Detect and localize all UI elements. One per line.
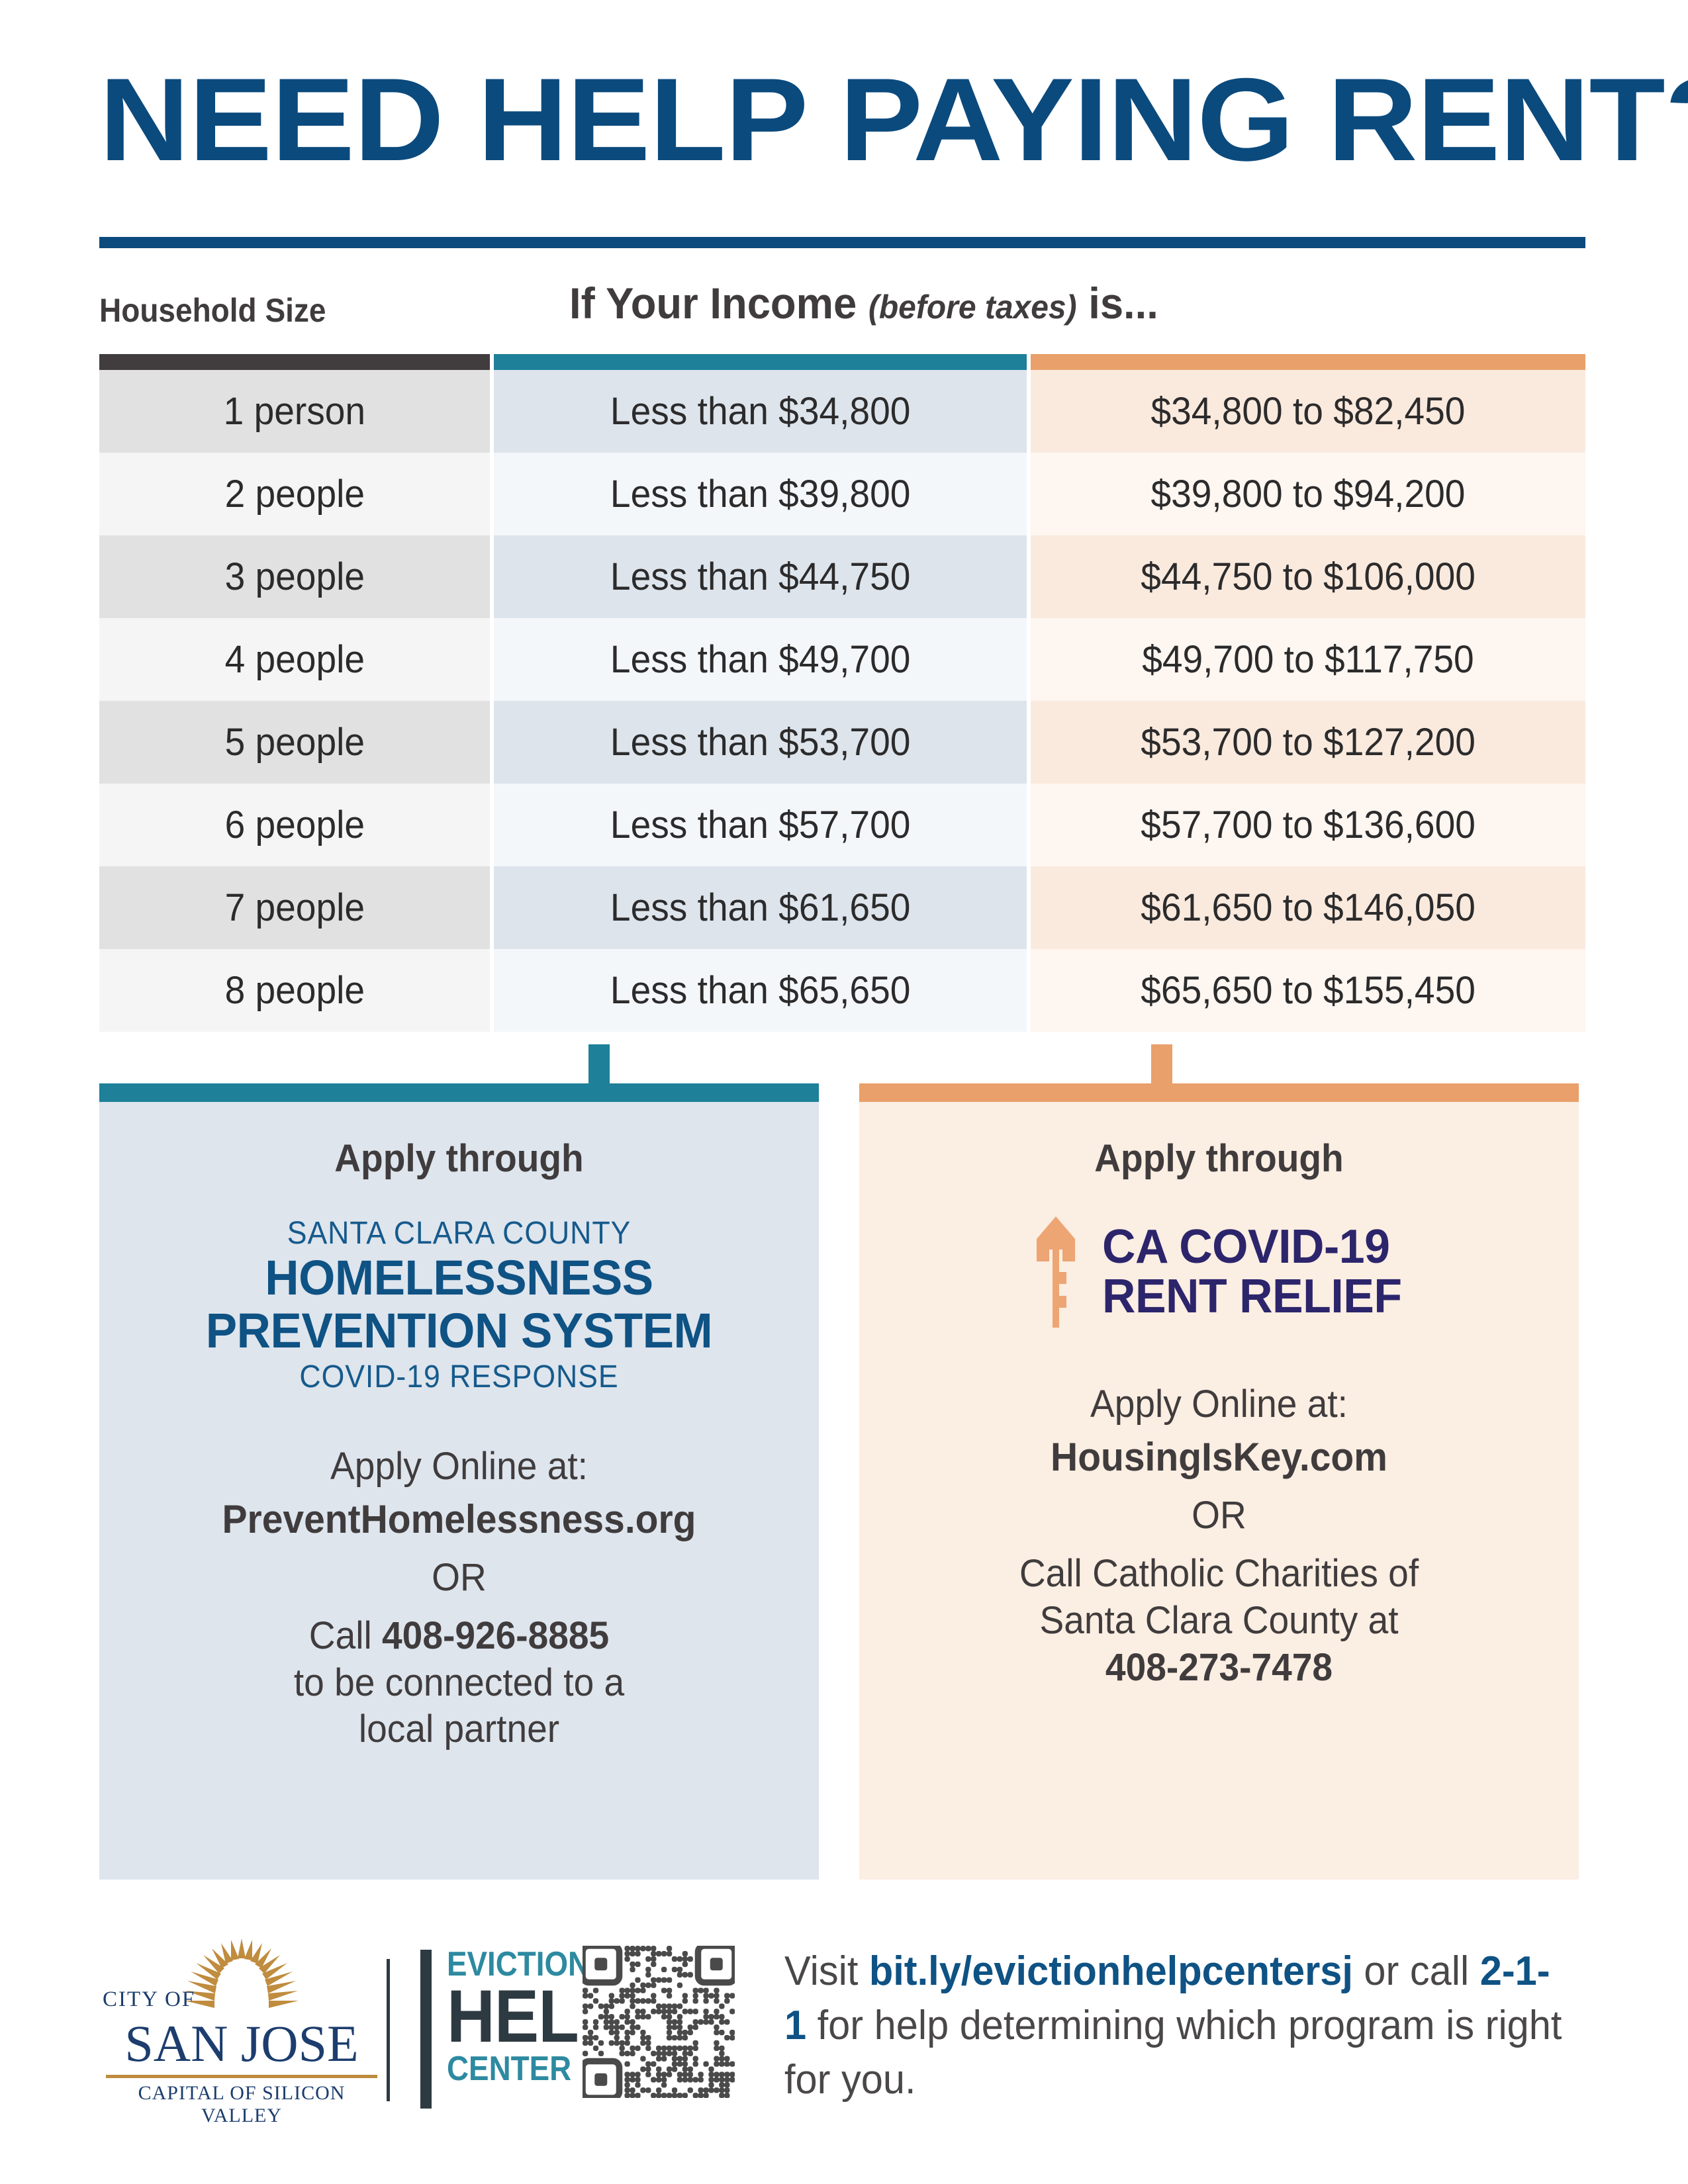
table-row: 2 peopleLess than $39,800$39,800 to $94,… [99,453,1585,535]
call-instruction-left: Call 408-926-8885 to be connected to a l… [142,1613,776,1753]
call-suffix-line1-left: to be connected to a [294,1661,624,1704]
ca-rent-relief-logo: CA COVID-19 RENT RELIEF [886,1215,1552,1329]
income-header-tail: is... [1088,279,1158,328]
cell-household-size: 3 people [99,535,490,618]
income-header: If Your Income (before taxes) is... [569,278,1158,328]
cell-less-than: Less than $61,650 [494,866,1027,949]
qr-code[interactable] [583,1946,735,2098]
footer-text-part1: Visit [784,1948,869,1994]
table-row: 7 peopleLess than $61,650$61,650 to $146… [99,866,1585,949]
cell-income-range: $61,650 to $146,050 [1031,866,1585,949]
income-header-main: If Your Income [569,279,857,328]
panel-accent-bar-orange [859,1083,1579,1102]
apply-panel-homelessness-prevention: Apply through SANTA CLARA COUNTY HOMELES… [99,1083,819,1880]
san-jose-wordmark: SAN JOSE [103,2018,381,2070]
footer-text-part3: for help determining which program is ri… [784,2003,1562,2103]
cell-less-than: Less than $44,750 [494,535,1027,618]
cell-less-than: Less than $65,650 [494,949,1027,1032]
table-row: 4 peopleLess than $49,700$49,700 to $117… [99,618,1585,701]
website-link-left[interactable]: PreventHomelessness.org [142,1496,776,1542]
spacer [126,1395,792,1444]
ehc-line-center: CENTER [447,2051,581,2087]
ca-logo-line2: RENT RELIEF [1102,1272,1402,1322]
cell-household-size: 5 people [99,701,490,784]
or-separator-left: OR [142,1555,776,1600]
eviction-help-center-logo: EVICTION HELP CENTER [420,1947,599,2087]
footer-link[interactable]: bit.ly/evictionhelpcentersj [869,1948,1353,1994]
apply-online-label-right: Apply Online at: [902,1382,1536,1426]
footer-text-part2: or call [1353,1948,1480,1994]
call-prefix-left: Call [309,1614,382,1657]
phone-number-right[interactable]: 408-273-7478 [1105,1646,1333,1689]
call-line1-right: Call Catholic Charities of [1019,1552,1419,1595]
table-row: 8 peopleLess than $65,650$65,650 to $155… [99,949,1585,1032]
cell-income-range: $34,800 to $82,450 [1031,370,1585,453]
column-bar-household [99,354,490,370]
cell-income-range: $39,800 to $94,200 [1031,453,1585,535]
cell-household-size: 1 person [99,370,490,453]
san-jose-tagline: CAPITAL OF SILICON VALLEY [103,2082,381,2127]
panel-accent-bar-teal [99,1083,819,1102]
or-separator-right: OR [902,1493,1536,1537]
cell-household-size: 7 people [99,866,490,949]
column-bar-lower-income [494,354,1027,370]
table-row: 3 peopleLess than $44,750$44,750 to $106… [99,535,1585,618]
income-eligibility-table: 1 personLess than $34,800$34,800 to $82,… [99,354,1585,1032]
cell-household-size: 4 people [99,618,490,701]
cell-household-size: 6 people [99,784,490,866]
page-title: NEED HELP PAYING RENT? [99,61,1678,179]
spacer [886,1333,1552,1382]
ca-logo-line1: CA COVID-19 [1102,1222,1402,1272]
panel-body-right: Apply through CA COVID-19 RENT RELIEF Ap… [859,1102,1579,1880]
cell-less-than: Less than $49,700 [494,618,1027,701]
website-link-right[interactable]: HousingIsKey.com [902,1434,1536,1480]
hps-logo-subtitle: COVID-19 RESPONSE [149,1359,769,1395]
apply-through-label-right: Apply through [902,1136,1536,1181]
apply-panel-ca-rent-relief: Apply through CA COVID-19 RENT RELIEF Ap… [859,1083,1579,1880]
apply-through-label-left: Apply through [142,1136,776,1181]
cell-less-than: Less than $34,800 [494,370,1027,453]
ehc-wordmark: EVICTION HELP CENTER [447,1947,599,2087]
call-suffix-line2-left: local partner [359,1707,559,1751]
hps-logo-county: SANTA CLARA COUNTY [149,1215,769,1251]
footer-instruction-text: Visit bit.ly/evictionhelpcentersj or cal… [784,1944,1566,2107]
cell-less-than: Less than $53,700 [494,701,1027,784]
title-underline-rule [99,237,1585,248]
city-of-label: CITY OF [103,1987,195,2012]
cell-less-than: Less than $39,800 [494,453,1027,535]
call-instruction-right: Call Catholic Charities of Santa Clara C… [902,1551,1536,1691]
cell-income-range: $44,750 to $106,000 [1031,535,1585,618]
ehc-line-help: HELP [447,1981,584,2051]
table-row: 6 peopleLess than $57,700$57,700 to $136… [99,784,1585,866]
footer-divider [387,1959,390,2101]
san-jose-rule [106,2075,377,2078]
cell-income-range: $65,650 to $155,450 [1031,949,1585,1032]
cell-income-range: $53,700 to $127,200 [1031,701,1585,784]
cell-income-range: $49,700 to $117,750 [1031,618,1585,701]
footer: CITY OF SAN JOSE CAPITAL OF SILICON VALL… [0,1906,1688,2184]
table-row: 5 peopleLess than $53,700$53,700 to $127… [99,701,1585,784]
table-row: 1 personLess than $34,800$34,800 to $82,… [99,370,1585,453]
ehc-logo-bar [420,1950,432,2109]
ca-rent-relief-wordmark: CA COVID-19 RENT RELIEF [1102,1222,1402,1322]
cell-income-range: $57,700 to $136,600 [1031,784,1585,866]
panel-body-left: Apply through SANTA CLARA COUNTY HOMELES… [99,1102,819,1880]
hps-logo-title-line1: HOMELESSNESS [139,1251,779,1304]
table-column-color-bars [99,354,1585,370]
household-size-header: Household Size [99,291,326,330]
column-bar-higher-income [1031,354,1585,370]
apply-online-label-left: Apply Online at: [142,1444,776,1488]
cell-household-size: 8 people [99,949,490,1032]
call-line2-right: Santa Clara County at [1039,1599,1398,1642]
hps-logo-title-line2: PREVENTION SYSTEM [139,1304,779,1357]
cell-household-size: 2 people [99,453,490,535]
flyer-page: NEED HELP PAYING RENT? Household Size If… [0,0,1688,2184]
city-of-san-jose-logo: CITY OF SAN JOSE CAPITAL OF SILICON VALL… [103,1936,381,2127]
house-key-icon [1031,1215,1080,1329]
cell-less-than: Less than $57,700 [494,784,1027,866]
phone-number-left[interactable]: 408-926-8885 [382,1614,609,1657]
income-header-paren: (before taxes) [868,289,1077,326]
